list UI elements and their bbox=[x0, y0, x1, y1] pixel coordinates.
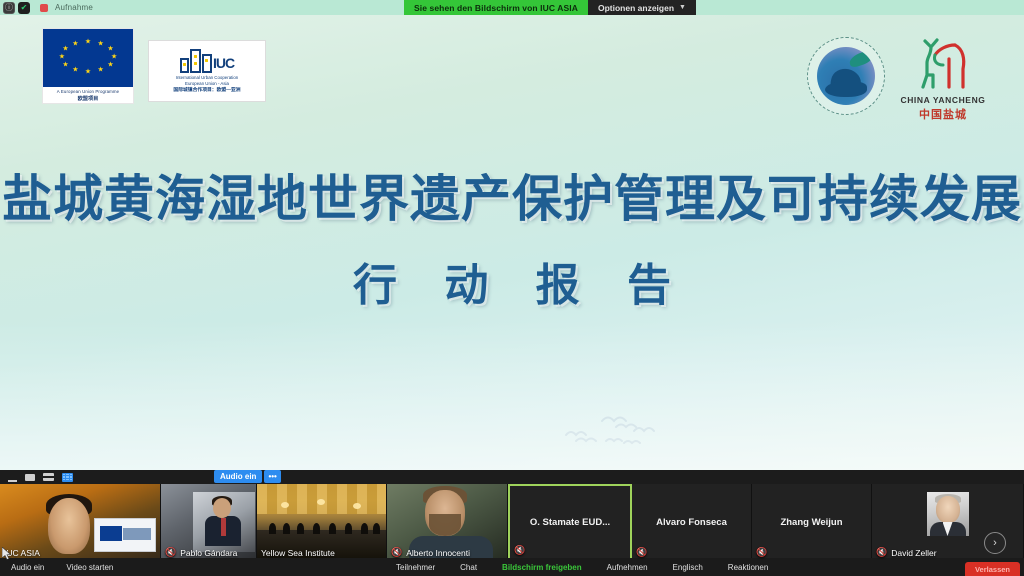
participant-mute-badge: 🔇 bbox=[514, 545, 525, 556]
toolbar-left-group: Audio ein Video starten bbox=[0, 563, 113, 572]
chevron-right-icon[interactable]: › bbox=[984, 532, 1006, 554]
eu-stars: ★ ★ ★ ★ ★ ★ ★ ★ ★ ★ ★ ★ bbox=[43, 29, 133, 87]
participant-tile-alberto-innocenti[interactable]: 🔇 Alberto Innocenti bbox=[387, 484, 508, 560]
participants-button[interactable]: Teilnehmer bbox=[396, 563, 435, 572]
participant-name-badge: 🔇 David Zeller bbox=[876, 547, 937, 558]
gallery-view-icon[interactable] bbox=[62, 473, 73, 482]
recording-indicator-icon bbox=[40, 4, 48, 12]
participant-name-badge: Yellow Sea Institute bbox=[261, 548, 335, 558]
deer-icon bbox=[897, 37, 989, 95]
european-union-logo: ★ ★ ★ ★ ★ ★ ★ ★ ★ ★ ★ ★ A European Union… bbox=[42, 28, 134, 104]
reactions-button[interactable]: Reaktionen bbox=[728, 563, 768, 572]
video-toggle-button[interactable]: Video starten bbox=[66, 563, 113, 572]
participant-name: O. Stamate EUD... bbox=[530, 517, 610, 528]
slide-title-line-2: 行 动 报 告 bbox=[0, 260, 1024, 312]
mute-icon: 🔇 bbox=[636, 547, 647, 558]
show-options-button[interactable]: Optionen anzeigen ▼ bbox=[588, 0, 696, 15]
yancheng-label-en: CHINA YANCHENG bbox=[897, 95, 989, 105]
mute-icon: 🔇 bbox=[756, 547, 767, 558]
audio-unmute-button[interactable]: Audio ein bbox=[214, 470, 262, 483]
eu-flag-icon bbox=[100, 526, 122, 541]
share-screen-button[interactable]: Bildschirm freigeben bbox=[502, 563, 582, 572]
yancheng-label-cn: 中国盐城 bbox=[897, 106, 989, 122]
china-yancheng-logo: CHINA YANCHENG 中国盐城 bbox=[897, 37, 989, 122]
share-notice-text: Sie sehen den Bildschirm von IUC ASIA bbox=[404, 0, 588, 15]
mute-icon: 🔇 bbox=[876, 547, 887, 558]
participant-tile-alvaro-fonseca[interactable]: Alvaro Fonseca 🔇 bbox=[632, 484, 752, 560]
participant-name: Yellow Sea Institute bbox=[261, 548, 335, 558]
participant-tile-iuc-asia[interactable]: IUC ASIA bbox=[0, 484, 161, 560]
avatar bbox=[927, 492, 969, 536]
participant-tile-yellow-sea-institute[interactable]: Yellow Sea Institute bbox=[257, 484, 387, 560]
shield-icon[interactable]: ✔ bbox=[18, 2, 30, 14]
participant-tile-o-stamate-eud[interactable]: O. Stamate EUD... 🔇 bbox=[508, 484, 632, 560]
speaker-view-icon[interactable] bbox=[25, 474, 35, 481]
wetland-emblem-leaf bbox=[848, 50, 875, 69]
strip-view-icon[interactable] bbox=[43, 473, 54, 481]
participant-name: Zhang Weijun bbox=[780, 517, 842, 528]
mouse-cursor-icon bbox=[2, 547, 11, 565]
zoom-meeting-window: ⓘ ✔ Aufnahme Sie sehen den Bildschirm vo… bbox=[0, 0, 1024, 576]
audio-toggle-button[interactable]: Audio ein bbox=[11, 563, 44, 572]
info-icon[interactable]: ⓘ bbox=[3, 2, 15, 14]
mute-icon: 🔇 bbox=[165, 547, 176, 558]
participant-tiles: IUC ASIA 🔇 Pablo Gándara bbox=[0, 484, 1024, 560]
mute-icon: 🔇 bbox=[391, 547, 402, 558]
mute-icon: 🔇 bbox=[514, 545, 525, 556]
avatar-face bbox=[48, 498, 90, 554]
participant-mute-badge: 🔇 bbox=[756, 547, 767, 558]
chat-button[interactable]: Chat bbox=[460, 563, 477, 572]
participant-name: Alberto Innocenti bbox=[406, 548, 470, 558]
participant-tile-pablo-gandara[interactable]: 🔇 Pablo Gándara bbox=[161, 484, 257, 560]
language-interpretation-button[interactable]: Englisch bbox=[673, 563, 703, 572]
iuc-logo: IUC International Urban Cooperation Euro… bbox=[148, 40, 266, 102]
avatar-face bbox=[213, 498, 231, 518]
iuc-caption-line3: 国际城镇合作项目：欧盟—亚洲 bbox=[173, 88, 240, 94]
wetland-emblem-inner bbox=[817, 47, 875, 105]
view-layout-toolbar bbox=[0, 470, 1024, 484]
participant-video-strip: IUC ASIA 🔇 Pablo Gándara bbox=[0, 470, 1024, 560]
participant-name: David Zeller bbox=[891, 548, 936, 558]
iuc-building-icon bbox=[180, 49, 212, 73]
leave-meeting-button[interactable]: Verlassen bbox=[965, 562, 1020, 576]
background-slide bbox=[94, 518, 156, 552]
participant-tile-zhang-weijun[interactable]: Zhang Weijun 🔇 bbox=[752, 484, 872, 560]
meeting-controls-toolbar: Audio ein Video starten Teilnehmer Chat … bbox=[0, 558, 1024, 576]
eu-logo-caption: A European Union Programme 欧盟项目 bbox=[43, 87, 133, 103]
chevron-down-icon: ▼ bbox=[679, 4, 686, 11]
slide-title-line-1: 盐城黄海湿地世界遗产保护管理及可持续发展 bbox=[0, 170, 1024, 228]
iuc-caption-line2: European Union - Asia bbox=[173, 81, 240, 87]
avatar-face bbox=[936, 496, 960, 523]
top-bar-left-group: ⓘ ✔ Aufnahme bbox=[0, 2, 93, 14]
screen-share-banner: Sie sehen den Bildschirm von IUC ASIA Op… bbox=[404, 0, 696, 15]
toolbar-center-group: Teilnehmer Chat Bildschirm freigeben Auf… bbox=[396, 563, 768, 572]
participant-mute-badge: 🔇 bbox=[636, 547, 647, 558]
avatar-beard bbox=[429, 514, 461, 536]
participant-name-badge: 🔇 Alberto Innocenti bbox=[391, 547, 470, 558]
record-button[interactable]: Aufnehmen bbox=[607, 563, 648, 572]
eu-caption-en: A European Union Programme bbox=[43, 89, 133, 94]
background-text bbox=[123, 528, 151, 540]
recording-label: Aufnahme bbox=[55, 3, 93, 12]
audio-more-options-button[interactable]: ••• bbox=[264, 470, 280, 483]
eu-caption-cn: 欧盟项目 bbox=[43, 95, 133, 102]
meeting-top-bar: ⓘ ✔ Aufnahme Sie sehen den Bildschirm vo… bbox=[0, 0, 1024, 15]
audio-unmute-popup[interactable]: Audio ein ••• bbox=[214, 470, 281, 483]
participant-name-badge: 🔇 Pablo Gándara bbox=[165, 547, 237, 558]
iuc-logo-mark: IUC bbox=[180, 43, 234, 73]
flying-birds-decoration-icon bbox=[560, 411, 670, 459]
shared-screen-slide: ★ ★ ★ ★ ★ ★ ★ ★ ★ ★ ★ ★ A European Union… bbox=[0, 15, 1024, 470]
show-options-label: Optionen anzeigen bbox=[598, 3, 674, 13]
participant-name: Pablo Gándara bbox=[180, 548, 237, 558]
eu-flag-icon: ★ ★ ★ ★ ★ ★ ★ ★ ★ ★ ★ ★ bbox=[43, 29, 133, 87]
yellow-sea-wetland-emblem-icon bbox=[807, 37, 885, 115]
iuc-wordmark: IUC bbox=[213, 53, 234, 73]
avatar-tie bbox=[221, 518, 226, 536]
iuc-logo-caption: International Urban Cooperation European… bbox=[173, 75, 240, 94]
minimize-icon[interactable] bbox=[8, 473, 17, 482]
participant-name: Alvaro Fonseca bbox=[656, 517, 727, 528]
